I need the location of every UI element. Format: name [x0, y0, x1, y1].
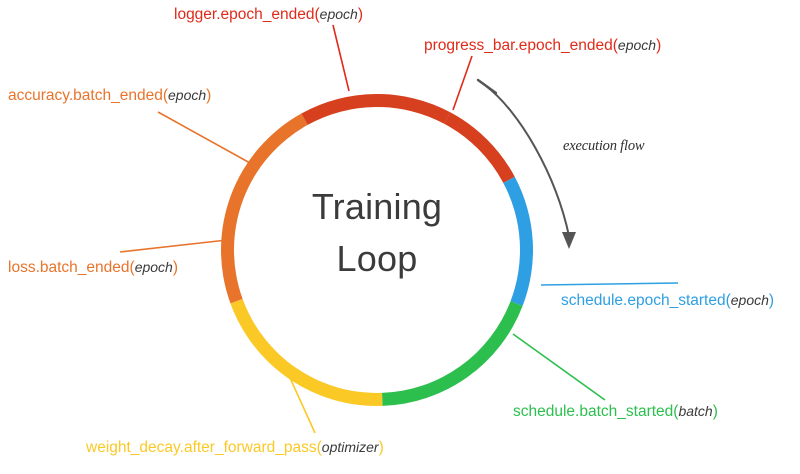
leader-line-accuracy-batch-ended [158, 112, 250, 163]
label-paren-close: ) [713, 403, 718, 420]
leader-line-loss-batch-ended [120, 240, 227, 252]
training-loop-diagram: Training Loop execution flow logger.epoc… [0, 0, 800, 474]
label-text-weight-decay-after-forward-pass: weight_decay.after_forward_pass [86, 439, 317, 456]
ring-segment-progress_bar[interactable] [444, 112, 515, 183]
label-paren-close: ) [206, 87, 211, 104]
label-progress-bar-epoch-ended[interactable]: progress_bar.epoch_ended(epoch) [424, 38, 661, 54]
leader-line-progress-bar-epoch-ended [453, 56, 472, 110]
label-paren-close: ) [173, 259, 178, 276]
label-schedule-batch-started[interactable]: schedule.batch_started(batch) [513, 404, 718, 420]
ring-segment-logger_epoch_ended[interactable] [301, 94, 450, 125]
execution-flow-label: execution flow [563, 138, 644, 155]
label-text-accuracy-batch-ended: accuracy.batch_ended [8, 87, 163, 104]
leader-line-schedule-epoch-started [541, 283, 678, 285]
ring-segment-schedule_batch_started[interactable] [382, 301, 523, 406]
label-text-loss-batch-ended: loss.batch_ended [8, 259, 130, 276]
label-text-logger-epoch-ended: logger.epoch_ended [174, 6, 315, 23]
label-paren-close: ) [358, 6, 363, 23]
label-arg-loss-batch-ended: epoch [135, 259, 173, 275]
leader-line-schedule-batch-started [513, 334, 605, 400]
label-arg-schedule-epoch-started: epoch [731, 292, 769, 308]
label-text-schedule-batch-started: schedule.batch_started [513, 403, 673, 420]
label-text-progress-bar-epoch-ended: progress_bar.epoch_ended [424, 37, 613, 54]
label-text-schedule-epoch-started: schedule.epoch_started [561, 292, 726, 309]
label-paren-close: ) [379, 439, 384, 456]
label-paren-close: ) [769, 292, 774, 309]
label-arg-weight-decay-after-forward-pass: optimizer [322, 439, 379, 455]
label-logger-epoch-ended[interactable]: logger.epoch_ended(epoch) [174, 7, 363, 23]
label-arg-schedule-batch-started: batch [678, 403, 712, 419]
ring-segment-weight_decay[interactable] [230, 299, 382, 406]
label-loss-batch-ended[interactable]: loss.batch_ended(epoch) [8, 260, 178, 276]
label-arg-progress-bar-epoch-ended: epoch [618, 37, 656, 53]
label-paren-close: ) [656, 37, 661, 54]
flow-arrow-tail-cap [478, 80, 496, 93]
leader-line-logger-epoch-ended [333, 25, 349, 91]
label-accuracy-batch-ended[interactable]: accuracy.batch_ended(epoch) [8, 88, 211, 104]
label-weight-decay-after-forward-pass[interactable]: weight_decay.after_forward_pass(optimize… [86, 440, 384, 456]
label-arg-accuracy-batch-ended: epoch [168, 87, 206, 103]
ring-segment-schedule_epoch_started[interactable] [503, 177, 533, 306]
label-arg-logger-epoch-ended: epoch [320, 6, 358, 22]
label-schedule-epoch-started[interactable]: schedule.epoch_started(epoch) [561, 293, 774, 309]
flow-arrow-head [562, 232, 576, 249]
page-title: Training Loop [247, 181, 507, 285]
